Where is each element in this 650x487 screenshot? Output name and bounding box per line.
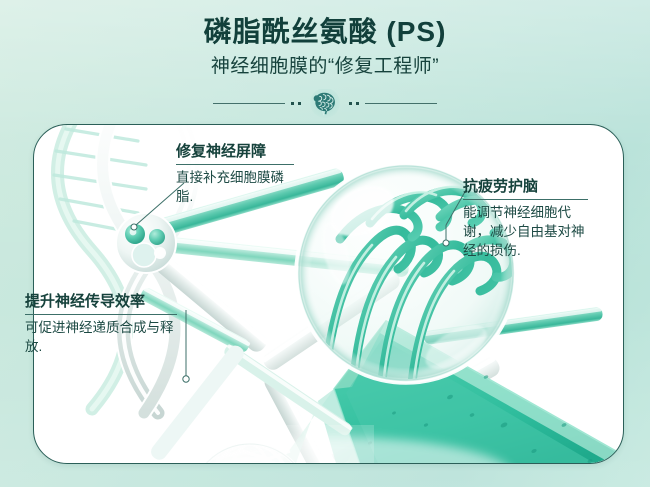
callout-repair: 修复神经屏障 直接补充细胞膜磷脂. — [176, 143, 294, 206]
divider-dots-left — [291, 102, 301, 105]
callout-antifatigue: 抗疲劳护脑 能调节神经细胞代谢，减少自由基对神经的损伤. — [463, 178, 588, 260]
callout-conduction-body: 可促进神经递质合成与释放. — [25, 315, 177, 356]
brain-icon — [307, 89, 343, 119]
divider-line-right — [365, 103, 437, 104]
page-title: 磷脂酰丝氨酸 (PS) — [0, 14, 650, 49]
divider-line-left — [213, 103, 285, 104]
page-subtitle: 神经细胞膜的“修复工程师” — [0, 55, 650, 80]
divider — [160, 87, 490, 121]
poster-root: 磷脂酰丝氨酸 (PS) 神经细胞膜的“修复工程师” — [0, 0, 650, 487]
header: 磷脂酰丝氨酸 (PS) 神经细胞膜的“修复工程师” — [0, 0, 650, 121]
callout-conduction-title: 提升神经传导效率 — [25, 293, 177, 315]
callout-antifatigue-title: 抗疲劳护脑 — [463, 178, 588, 200]
divider-dots-right — [349, 102, 359, 105]
callout-repair-title: 修复神经屏障 — [176, 143, 294, 165]
callout-conduction: 提升神经传导效率 可促进神经递质合成与释放. — [25, 293, 177, 356]
callout-antifatigue-body: 能调节神经细胞代谢，减少自由基对神经的损伤. — [463, 200, 588, 260]
callout-repair-body: 直接补充细胞膜磷脂. — [176, 165, 294, 206]
